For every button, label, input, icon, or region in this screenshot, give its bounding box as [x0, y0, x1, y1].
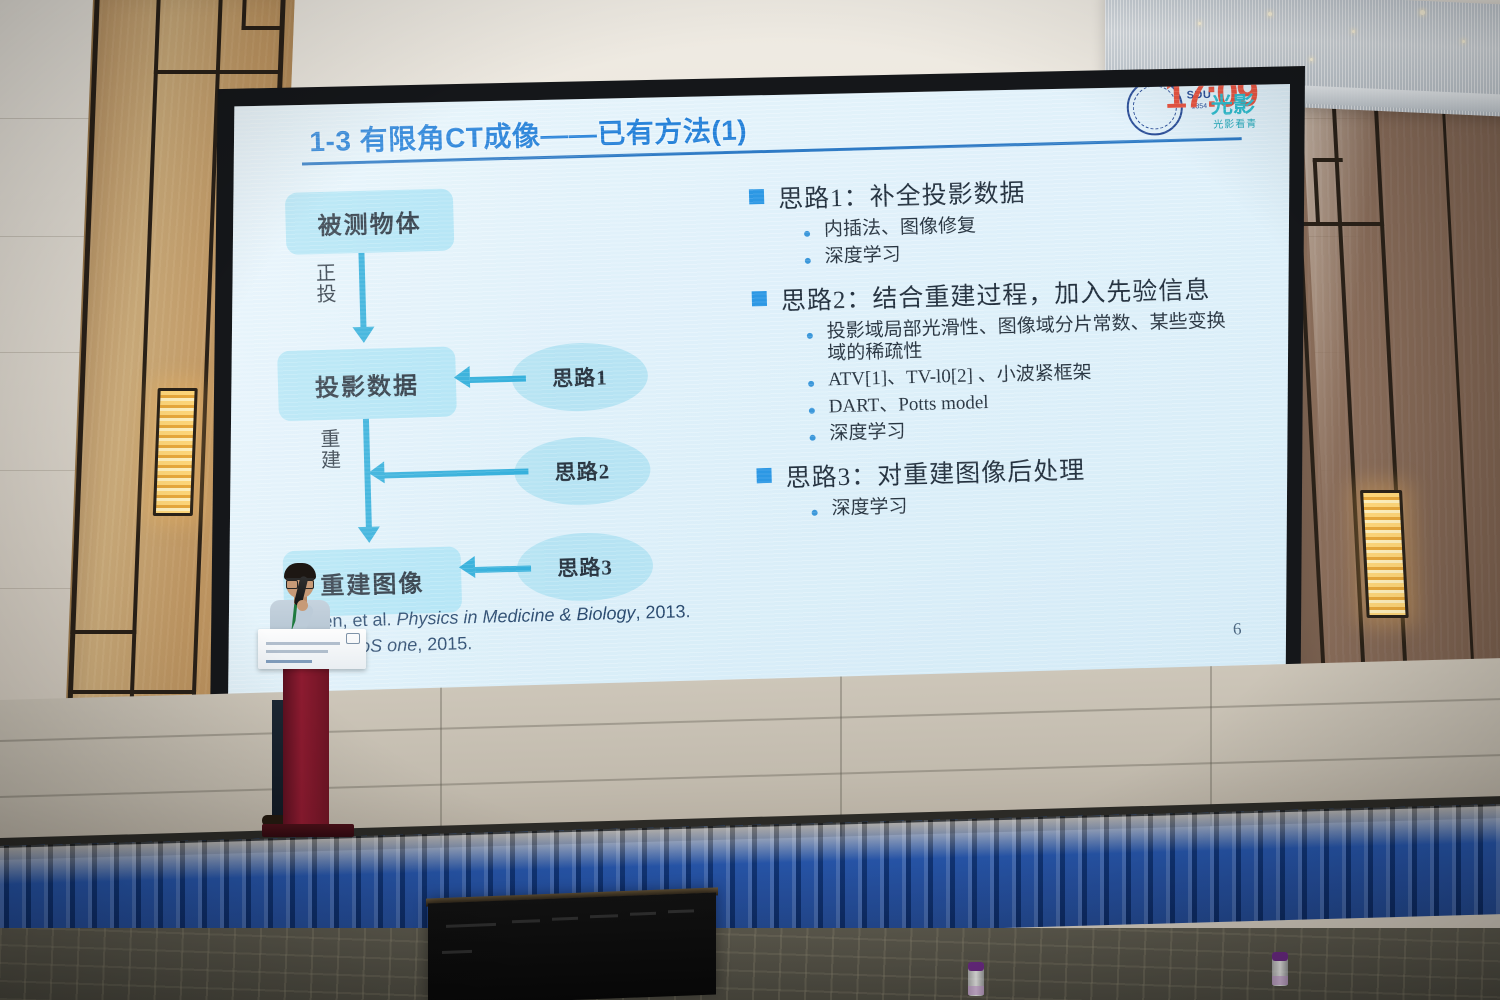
flow-branch-1: 思路1 — [511, 341, 649, 413]
sub-bullet-text: 深度学习 — [824, 244, 901, 268]
flow-line-branch-2 — [382, 469, 528, 479]
bullet-label: 思路2：结合重建过程，加入先验信息 — [780, 270, 1210, 318]
flow-line-forward — [358, 253, 366, 331]
slide-page-number: 6 — [1233, 619, 1242, 639]
flow-node-projection: 投影数据 — [277, 346, 457, 421]
wall-sconce-left — [153, 388, 198, 516]
conference-logo: SDU 1854 17:09 光影 光影看青 — [1126, 84, 1273, 136]
conference-presentation-photo: 1-3 有限角CT成像——已有方法(1) SDU 1854 17:09 光影 光… — [0, 0, 1500, 1000]
flow-label-reconstruct: 重建 — [313, 429, 348, 472]
flow-arrow-reconstruct — [358, 527, 380, 544]
dot-bullet-icon — [809, 408, 815, 414]
water-bottle[interactable] — [1272, 952, 1288, 986]
square-bullet-icon — [749, 189, 764, 204]
dot-bullet-icon — [810, 435, 816, 441]
flow-branch-2: 思路2 — [514, 435, 652, 507]
flow-label-forward-projection: 正投 — [309, 263, 344, 306]
flow-arrow-branch-2 — [368, 461, 385, 483]
wall-sconce-right — [1360, 490, 1409, 618]
presentation-screen: 1-3 有限角CT成像——已有方法(1) SDU 1854 17:09 光影 光… — [228, 84, 1290, 706]
sub-bullet-text: 投影域局部光滑性、图像域分片常数、某些变换域的稀疏性 — [826, 310, 1227, 364]
bullet-level2: 投影域局部光滑性、图像域分片常数、某些变换域的稀疏性 — [806, 310, 1227, 365]
bullet-list: 思路1：补全投影数据 内插法、图像修复 深度学习 思路2：结合重建过程，加入先验… — [749, 162, 1278, 522]
flow-arrow-branch-1 — [454, 366, 471, 388]
sub-bullet-text: DART、Potts model — [829, 392, 989, 418]
podium-sign — [258, 629, 366, 669]
reference-year: , 2013. — [635, 601, 691, 622]
sub-bullet-text: 深度学习 — [831, 496, 908, 520]
speaker-hand — [297, 600, 308, 611]
dot-bullet-icon — [812, 510, 818, 516]
sub-bullet-text: ATV[1]、TV-l0[2] 、小波紧框架 — [828, 363, 1092, 392]
flow-arrow-branch-3 — [459, 556, 476, 578]
square-bullet-icon — [752, 291, 767, 306]
foreground-monitor[interactable] — [428, 892, 716, 1000]
flow-branch-3: 思路3 — [516, 531, 654, 603]
reference-journal: Physics in Medicine & Biology — [396, 603, 636, 629]
dot-bullet-icon — [807, 332, 813, 338]
reference-year: , 2015. — [417, 633, 473, 654]
water-bottle[interactable] — [968, 962, 984, 996]
dot-bullet-icon — [804, 231, 810, 237]
dot-bullet-icon — [808, 381, 814, 387]
bullet-label: 思路3：对重建图像后处理 — [785, 450, 1085, 494]
dot-bullet-icon — [805, 258, 811, 264]
flow-arrow-forward — [352, 327, 374, 344]
square-bullet-icon — [756, 468, 771, 483]
slide-canvas: 1-3 有限角CT成像——已有方法(1) SDU 1854 17:09 光影 光… — [246, 84, 1290, 700]
sub-bullet-text: 深度学习 — [829, 421, 906, 445]
sub-bullet-text: 内插法、图像修复 — [824, 215, 977, 241]
podium-base — [262, 824, 354, 837]
podium-sign-badge-icon — [346, 633, 360, 644]
logo-subtitle: 光影看青 — [1213, 115, 1257, 131]
bullet-label: 思路1：补全投影数据 — [778, 173, 1026, 216]
flow-node-object: 被测物体 — [285, 188, 455, 255]
